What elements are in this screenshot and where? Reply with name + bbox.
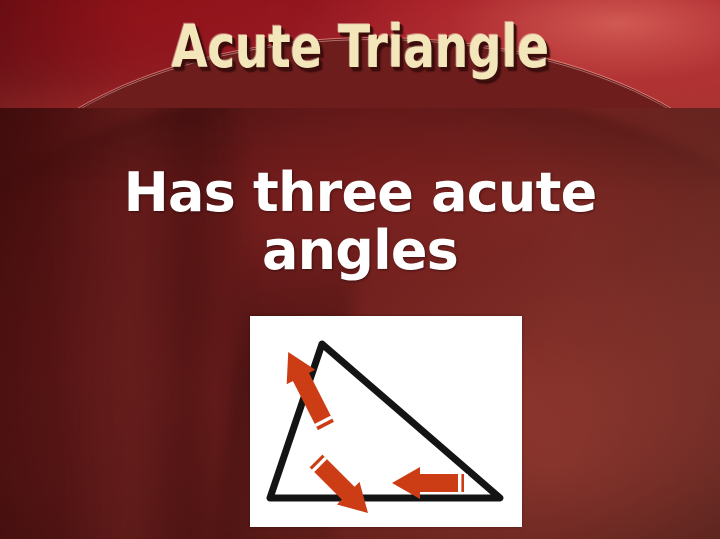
acute-triangle-figure [250, 316, 522, 527]
body-line-2: angles [40, 222, 680, 280]
acute-triangle-svg [250, 316, 522, 527]
slide-title: Acute Triangle [72, 17, 648, 76]
slide-body-text: Has three acute angles [40, 164, 680, 280]
slide-canvas: Acute Triangle Has three acute angles [0, 0, 720, 539]
body-line-1: Has three acute [124, 161, 597, 224]
